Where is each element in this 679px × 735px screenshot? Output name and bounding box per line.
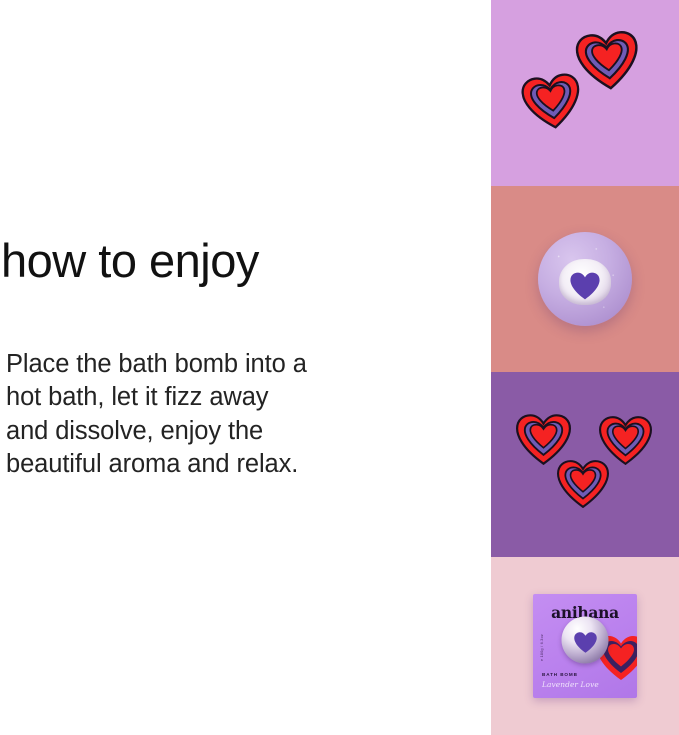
body-line: Place the bath bomb into a [6, 348, 406, 381]
body-line: hot bath, let it fizz away [6, 381, 406, 414]
package-bath-bomb-image [562, 617, 609, 664]
thumbnail-bath-bomb-closeup[interactable] [491, 186, 679, 372]
thumbnail-product-package[interactable]: anihana e 180g / 6.3oz [491, 557, 679, 735]
body-line: beautiful aroma and relax. [6, 448, 406, 481]
text-pane: how to enjoy Place the bath bomb into a … [0, 0, 470, 735]
package-net-weight: e 180g / 6.3oz [540, 634, 544, 661]
product-package: anihana e 180g / 6.3oz [533, 594, 637, 698]
purple-heart-icon [570, 271, 601, 300]
thumbnail-hearts-trio[interactable] [491, 372, 679, 557]
package-label-block: BATH BOMB Lavender Love [542, 672, 599, 689]
page-title: how to enjoy [1, 236, 259, 285]
thumbnail-column: anihana e 180g / 6.3oz [491, 0, 679, 735]
page-root: how to enjoy Place the bath bomb into a … [0, 0, 679, 735]
product-type-label: BATH BOMB [542, 672, 599, 677]
thumbnail-hearts-duo[interactable] [491, 0, 679, 186]
body-line: and dissolve, enjoy the [6, 415, 406, 448]
layered-heart-icon [520, 71, 585, 133]
package-purple-heart-icon [573, 632, 597, 654]
package-front-face: anihana e 180g / 6.3oz [533, 594, 637, 698]
layered-heart-icon [574, 29, 642, 93]
layered-heart-icon [599, 416, 652, 465]
bath-bomb-photo [538, 232, 632, 326]
product-variant-label: Lavender Love [542, 680, 599, 689]
layered-heart-icon [557, 460, 609, 508]
layered-heart-icon [516, 414, 571, 465]
body-copy: Place the bath bomb into a hot bath, let… [6, 348, 406, 482]
